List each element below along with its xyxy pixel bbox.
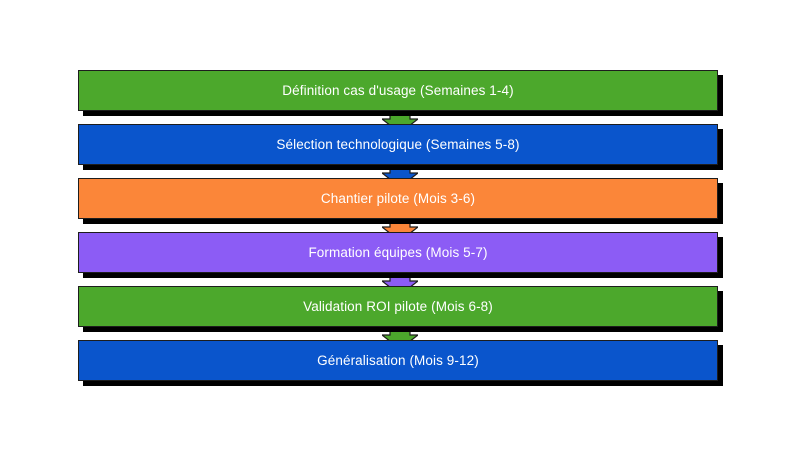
flow-step-generalisation[interactable]: Généralisation (Mois 9-12) (78, 340, 718, 381)
flow-step-box[interactable]: Chantier pilote (Mois 3-6) (78, 178, 718, 219)
flow-step-box[interactable]: Définition cas d'usage (Semaines 1-4) (78, 70, 718, 111)
flow-step-box[interactable]: Validation ROI pilote (Mois 6-8) (78, 286, 718, 327)
flow-step-label: Définition cas d'usage (Semaines 1-4) (282, 84, 513, 98)
flowchart-canvas: Définition cas d'usage (Semaines 1-4)Sél… (0, 0, 800, 450)
flow-step-label: Généralisation (Mois 9-12) (317, 354, 479, 368)
flow-step-label: Sélection technologique (Semaines 5-8) (276, 138, 519, 152)
flow-step-box[interactable]: Généralisation (Mois 9-12) (78, 340, 718, 381)
flow-step-label: Formation équipes (Mois 5-7) (308, 246, 487, 260)
flow-step-formation-equipes[interactable]: Formation équipes (Mois 5-7) (78, 232, 718, 273)
flow-step-label: Chantier pilote (Mois 3-6) (321, 192, 475, 206)
flow-step-label: Validation ROI pilote (Mois 6-8) (303, 300, 493, 314)
flow-step-box[interactable]: Formation équipes (Mois 5-7) (78, 232, 718, 273)
flow-step-box[interactable]: Sélection technologique (Semaines 5-8) (78, 124, 718, 165)
flow-step-definition-cas-usage[interactable]: Définition cas d'usage (Semaines 1-4) (78, 70, 718, 111)
flow-step-chantier-pilote[interactable]: Chantier pilote (Mois 3-6) (78, 178, 718, 219)
flow-step-validation-roi-pilote[interactable]: Validation ROI pilote (Mois 6-8) (78, 286, 718, 327)
flow-step-selection-technologique[interactable]: Sélection technologique (Semaines 5-8) (78, 124, 718, 165)
